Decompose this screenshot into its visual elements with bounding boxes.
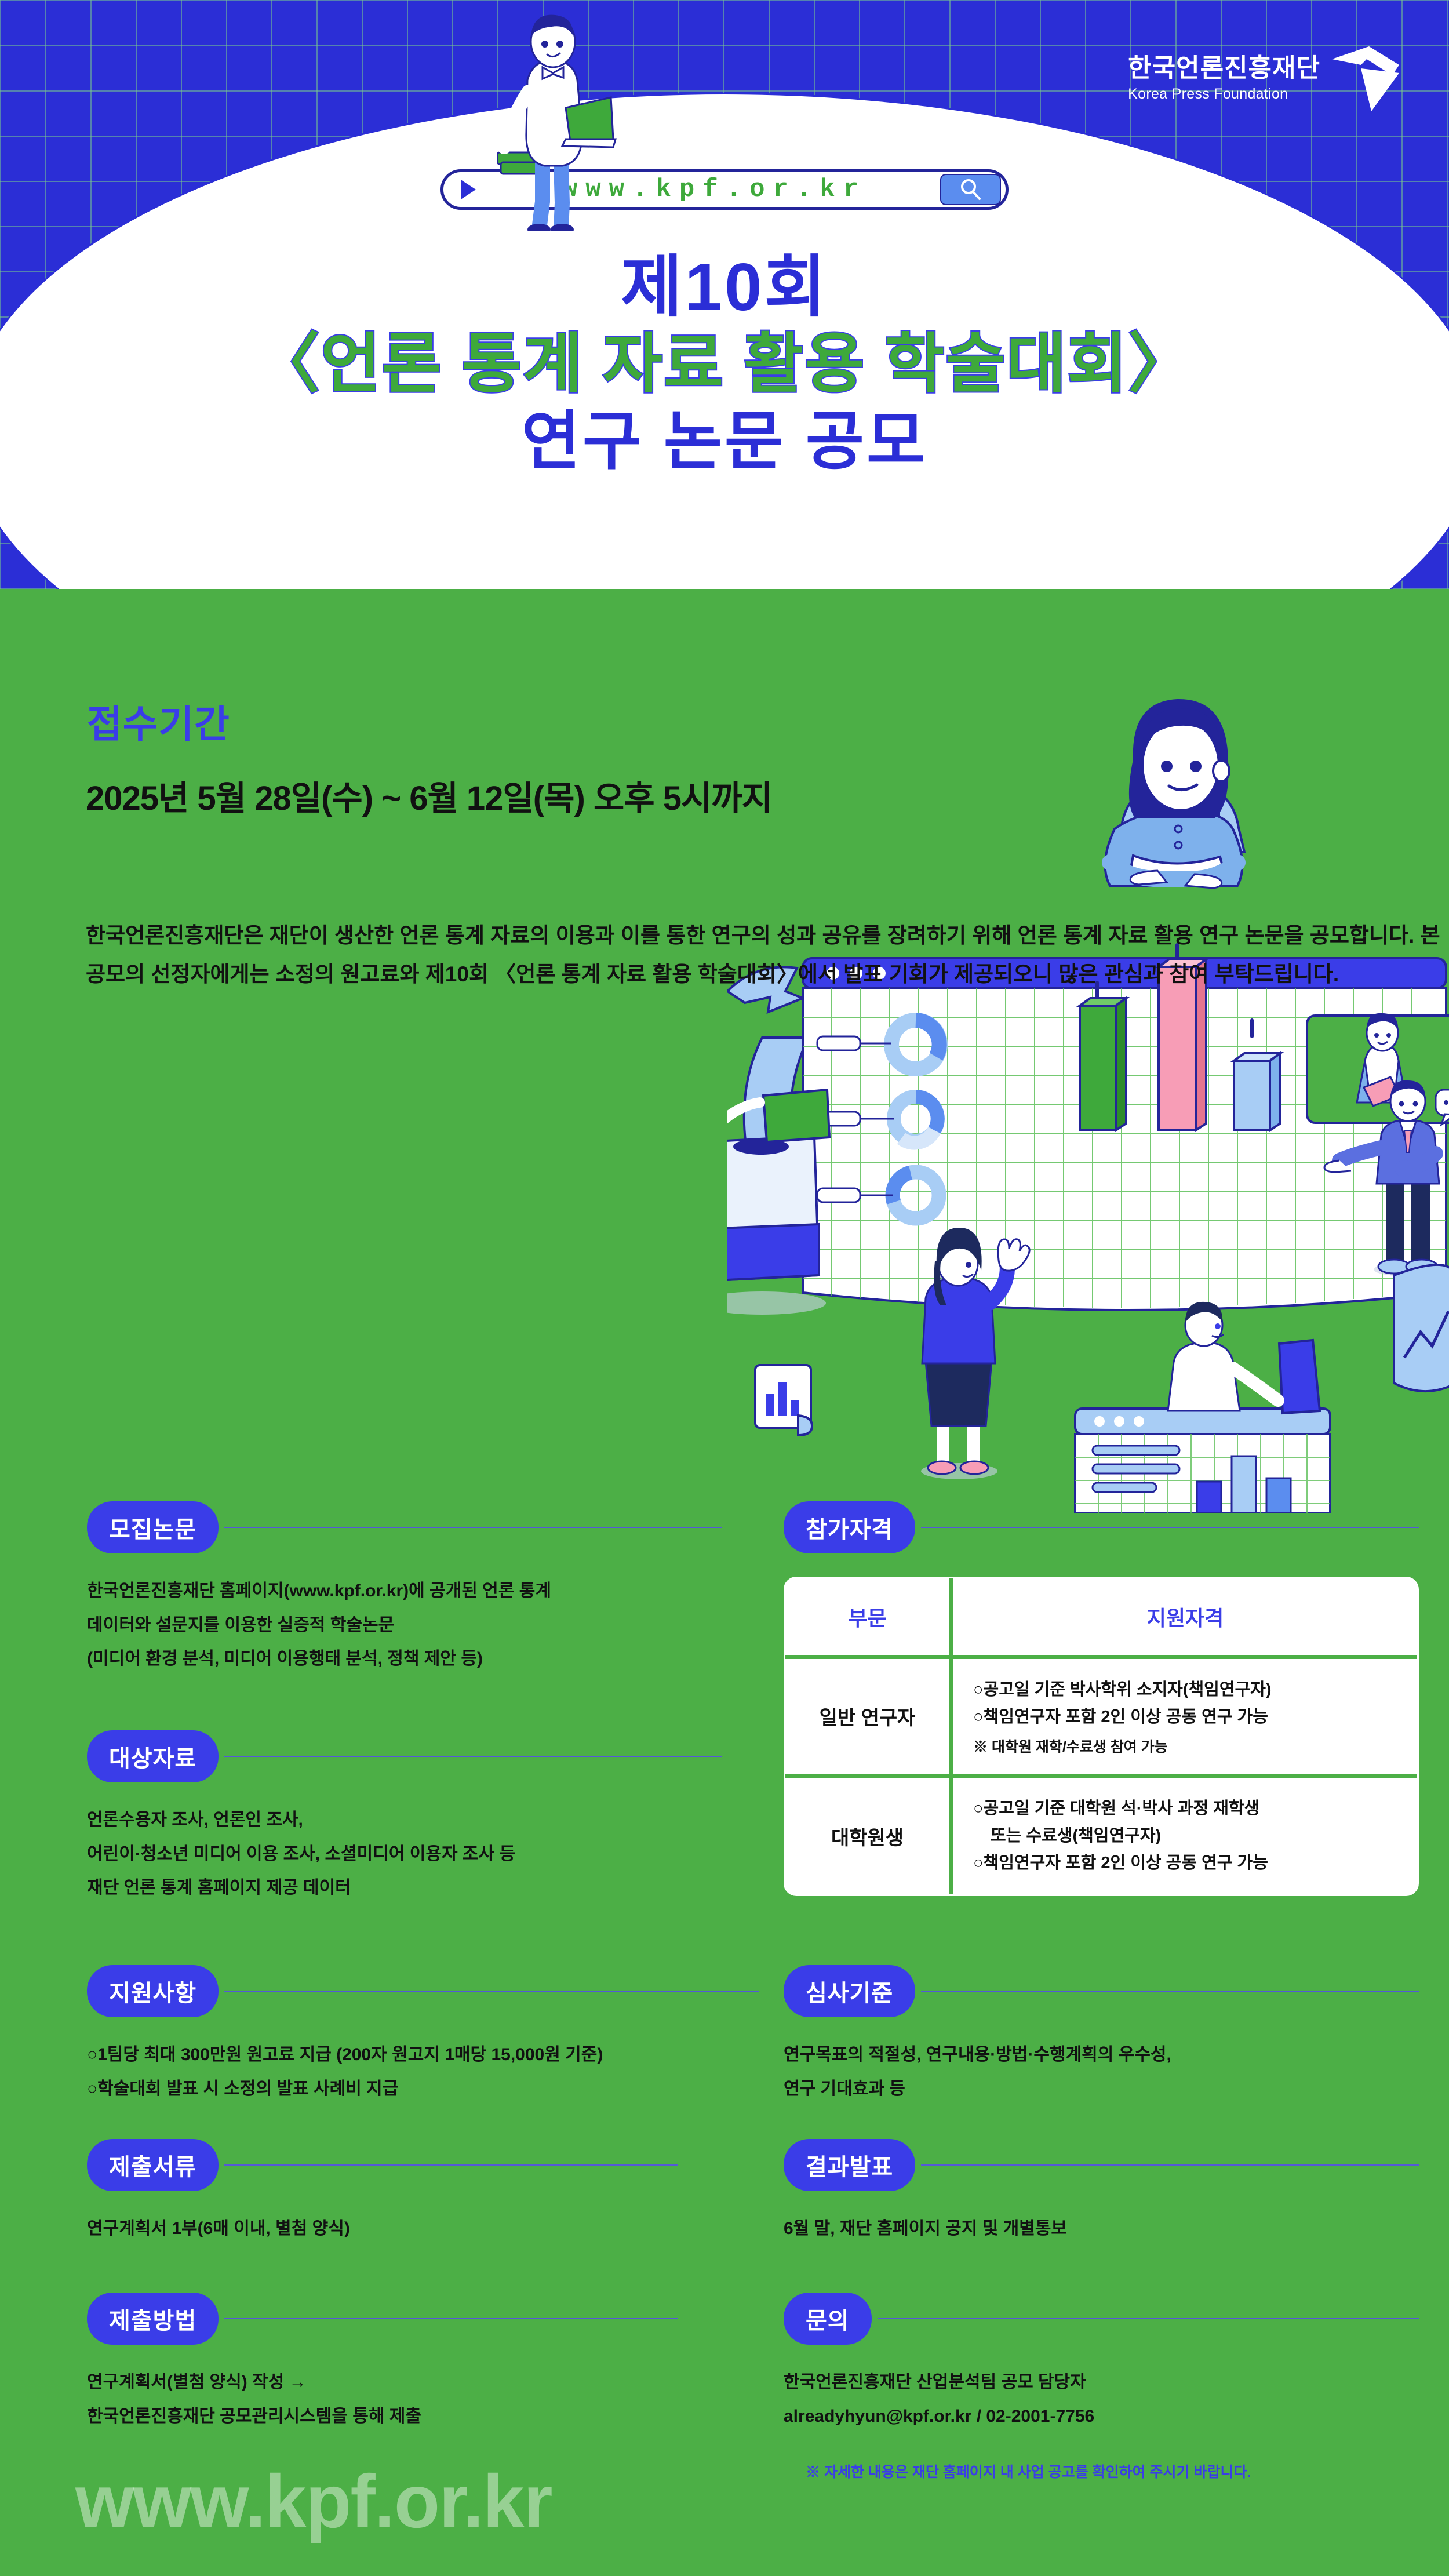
table-header-category: 부문 [785,1578,953,1655]
row-category-graduate: 대학원생 [785,1778,953,1894]
section-datasets-header: 대상자료 [87,1730,722,1782]
section-papers-rule [224,1527,722,1528]
data-presentation-illustration [727,690,1449,1513]
contact-line-1: 한국언론진흥재단 산업분석팀 공모 담당자 [784,2366,1419,2400]
section-support-title: 지원사항 [87,1965,219,2017]
section-contact-body: 한국언론진흥재단 산업분석팀 공모 담당자 alreadyhyun@kpf.or… [784,2366,1419,2433]
section-method-body: 연구계획서(별첨 양식) 작성 → 한국언론진흥재단 공모관리시스템을 통해 제… [87,2366,678,2433]
section-method-rule [224,2318,678,2319]
qual-item: ○공고일 기준 대학원 석·박사 과정 재학생 [973,1795,1397,1822]
support-line-2: ○학술대회 발표 시 소정의 발표 사례비 지급 [87,2072,759,2106]
search-button[interactable] [940,174,1001,205]
play-triangle-icon [461,180,476,199]
datasets-line-3: 재단 언론 통계 홈페이지 제공 데이터 [87,1871,722,1905]
section-contact-title: 문의 [784,2293,872,2345]
section-method: 제출방법 연구계획서(별첨 양식) 작성 → 한국언론진흥재단 공모관리시스템을… [87,2293,678,2433]
qual-item: ○책임연구자 포함 2인 이상 공동 연구 가능 [973,1704,1397,1731]
intro-line-6: 기회가 제공되오니 많은 관심과 참여 부탁드립니다. [889,962,1339,986]
section-criteria-rule [921,1991,1419,1992]
intro-paragraph: 한국언론진흥재단은 재단이 생산한 언론 통계 자료의 이용과 이를 통한 연구… [86,916,1449,994]
section-papers-header: 모집논문 [87,1501,722,1553]
section-contact: 문의 한국언론진흥재단 산업분석팀 공모 담당자 alreadyhyun@kpf… [784,2293,1419,2433]
hero-title-line1: 제10회 [0,250,1449,325]
section-datasets-body: 언론수용자 조사, 언론인 조사, 어린이·청소년 미디어 이용 조사, 소셜미… [87,1803,722,1905]
section-documents-rule [224,2164,678,2166]
results-line-1: 6월 말, 재단 홈페이지 공지 및 개별통보 [784,2212,1419,2246]
row-qualification-graduate: ○공고일 기준 대학원 석·박사 과정 재학생 또는 수료생(책임연구자) ○책… [953,1778,1417,1894]
method-line-1: 연구계획서(별첨 양식) 작성 → [87,2366,678,2400]
section-datasets-rule [224,1756,722,1757]
period-value: 2025년 5월 28일(수) ~ 6월 12일(목) 오후 5시까지 [86,771,772,820]
section-documents-body: 연구계획서 1부(6매 이내, 별첨 양식) [87,2212,678,2246]
section-criteria-header: 심사기준 [784,1965,1419,2017]
criteria-line-2: 연구 기대효과 등 [784,2072,1419,2106]
person-on-searchbar-illustration [497,10,671,231]
section-eligibility-title: 참가자격 [784,1501,915,1553]
documents-line-1: 연구계획서 1부(6매 이내, 별첨 양식) [87,2212,678,2246]
section-eligibility: 참가자격 부문 지원자격 일반 연구자 ○공고일 기준 박사학위 소지자(책임연… [784,1501,1419,1896]
section-documents-title: 제출서류 [87,2139,219,2191]
section-support: 지원사항 ○1팀당 최대 300만원 원고료 지급 (200자 원고지 1매당 … [87,1965,759,2106]
logo-korean-name: 한국언론진흥재단 [1128,56,1320,81]
datasets-line-1: 언론수용자 조사, 언론인 조사, [87,1803,722,1838]
contact-email-phone[interactable]: alreadyhyun@kpf.or.kr / 02-2001-7756 [784,2400,1419,2434]
section-datasets: 대상자료 언론수용자 조사, 언론인 조사, 어린이·청소년 미디어 이용 조사… [87,1730,722,1905]
intro-line-1: 한국언론진흥재단은 재단이 생산한 언론 통계 자료의 [86,923,549,947]
footer-watermark-url: www.kpf.or.kr [75,2458,552,2545]
hero-title-line3: 연구 논문 공모 [0,403,1449,480]
section-eligibility-rule [921,1527,1419,1528]
table-row: 대학원생 ○공고일 기준 대학원 석·박사 과정 재학생 또는 수료생(책임연구… [785,1778,1417,1894]
section-contact-rule [878,2318,1419,2319]
section-criteria-body: 연구목표의 적절성, 연구내용·방법·수행계획의 우수성, 연구 기대효과 등 [784,2038,1419,2106]
hero-title-block: 제10회 〈언론 통계 자료 활용 학술대회〉 연구 논문 공모 [0,250,1449,480]
intro-line-3: 언론 통계 자료 활용 연구 논문을 공모합니다. [1018,923,1415,947]
kpf-logo: 한국언론진흥재단 Korea Press Foundation [1128,45,1403,114]
criteria-line-1: 연구목표의 적절성, 연구내용·방법·수행계획의 우수성, [784,2038,1419,2072]
section-results-title: 결과발표 [784,2139,915,2191]
row-qualification-researcher: ○공고일 기준 박사학위 소지자(책임연구자) ○책임연구자 포함 2인 이상 … [953,1659,1417,1774]
papers-line-2: 데이터와 설문지를 이용한 실증적 학술논문 [87,1609,722,1643]
section-method-header: 제출방법 [87,2293,678,2345]
kpf-emblem-icon [1328,45,1403,114]
eligibility-table: 부문 지원자격 일반 연구자 ○공고일 기준 박사학위 소지자(책임연구자) ○… [784,1577,1419,1896]
table-header-row: 부문 지원자격 [785,1578,1417,1659]
intro-line-2: 이용과 이를 통한 연구의 성과 공유를 장려하기 위해 [556,923,1012,947]
qual-item: ○공고일 기준 박사학위 소지자(책임연구자) [973,1676,1397,1704]
section-documents-header: 제출서류 [87,2139,678,2191]
logo-english-name: Korea Press Foundation [1128,86,1320,103]
section-results-rule [921,2164,1419,2166]
section-results-body: 6월 말, 재단 홈페이지 공지 및 개별통보 [784,2212,1419,2246]
section-contact-header: 문의 [784,2293,1419,2345]
qual-note: ※ 대학원 재학/수료생 참여 가능 [973,1735,1397,1756]
section-support-rule [224,1991,759,1992]
hero-title-line2: 〈언론 통계 자료 활용 학술대회〉 [0,325,1449,404]
section-documents: 제출서류 연구계획서 1부(6매 이내, 별첨 양식) [87,2139,678,2246]
period-label: 접수기간 [87,693,230,749]
section-datasets-title: 대상자료 [87,1730,219,1782]
section-method-title: 제출방법 [87,2293,219,2345]
qual-item: 또는 수료생(책임연구자) [973,1822,1397,1850]
section-criteria-title: 심사기준 [784,1965,915,2017]
section-papers-body: 한국언론진흥재단 홈페이지(www.kpf.or.kr)에 공개된 언론 통계 … [87,1574,722,1676]
qual-item: ○책임연구자 포함 2인 이상 공동 연구 가능 [973,1850,1397,1877]
row-category-researcher: 일반 연구자 [785,1659,953,1774]
section-papers: 모집논문 한국언론진흥재단 홈페이지(www.kpf.or.kr)에 공개된 언… [87,1501,722,1676]
section-papers-title: 모집논문 [87,1501,219,1553]
intro-line-5: 제10회 〈언론 통계 자료 활용 학술대회〉에서 발표 [425,962,883,986]
section-criteria: 심사기준 연구목표의 적절성, 연구내용·방법·수행계획의 우수성, 연구 기대… [784,1965,1419,2106]
papers-line-3: (미디어 환경 분석, 미디어 이용행태 분석, 정책 제안 등) [87,1642,722,1676]
table-header-qualification: 지원자격 [953,1578,1417,1655]
section-eligibility-header: 참가자격 [784,1501,1419,1553]
table-row: 일반 연구자 ○공고일 기준 박사학위 소지자(책임연구자) ○책임연구자 포함… [785,1659,1417,1778]
support-line-1: ○1팀당 최대 300만원 원고료 지급 (200자 원고지 1매당 15,00… [87,2038,759,2072]
section-support-header: 지원사항 [87,1965,759,2017]
datasets-line-2: 어린이·청소년 미디어 이용 조사, 소셜미디어 이용자 조사 등 [87,1838,722,1872]
papers-line-1: 한국언론진흥재단 홈페이지(www.kpf.or.kr)에 공개된 언론 통계 [87,1574,722,1609]
method-line-2: 한국언론진흥재단 공모관리시스템을 통해 제출 [87,2400,678,2434]
section-support-body: ○1팀당 최대 300만원 원고료 지급 (200자 원고지 1매당 15,00… [87,2038,759,2106]
section-results-header: 결과발표 [784,2139,1419,2191]
section-results: 결과발표 6월 말, 재단 홈페이지 공지 및 개별통보 [784,2139,1419,2246]
logo-text-block: 한국언론진흥재단 Korea Press Foundation [1128,45,1320,103]
footer-note: ※ 자세한 내용은 재단 홈페이지 내 사업 공고를 확인하여 주시기 바랍니다… [806,2461,1251,2482]
magnifier-icon [957,176,984,203]
